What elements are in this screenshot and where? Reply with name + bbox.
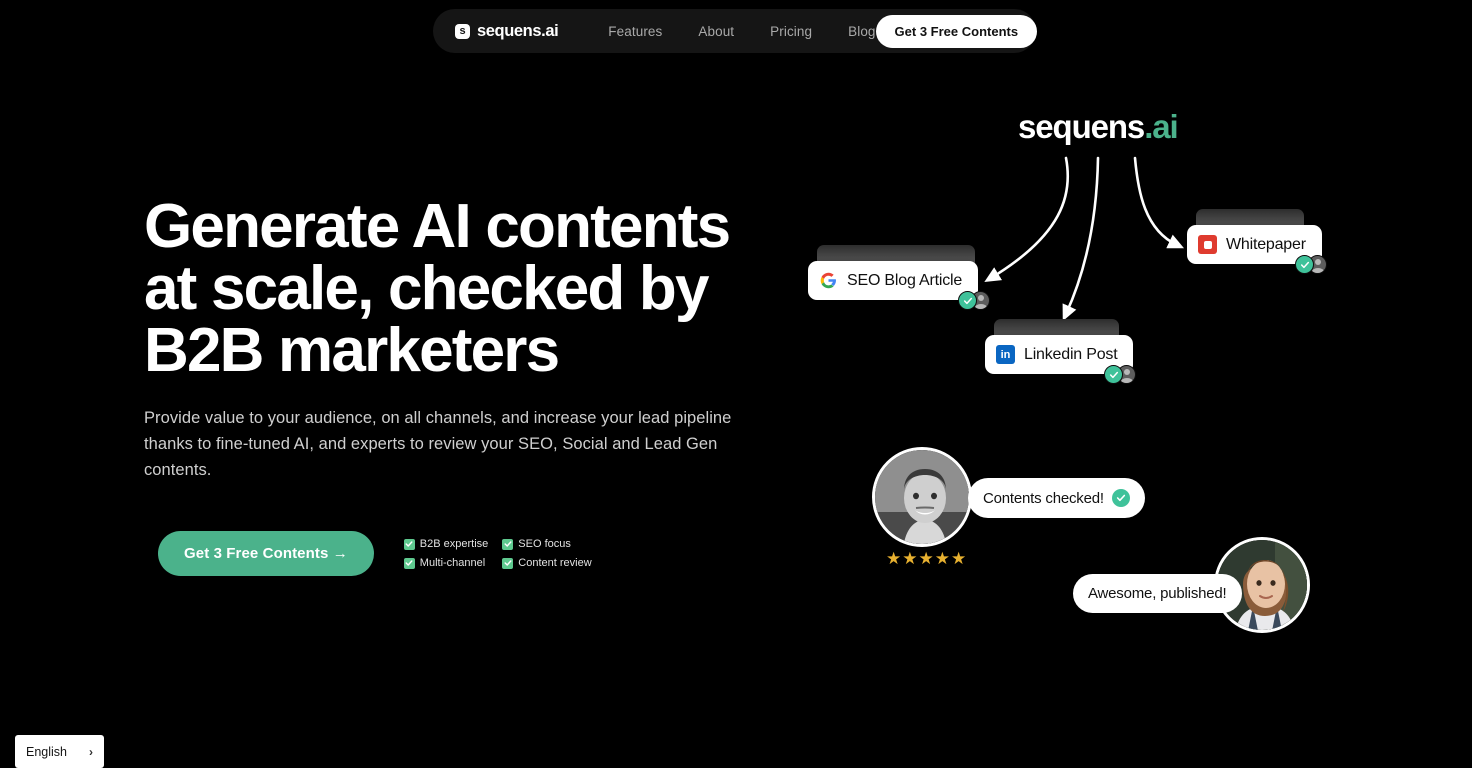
- testimonial-text: Contents checked!: [983, 490, 1104, 507]
- verified-check-icon: [1112, 489, 1130, 507]
- wordmark-suffix: .ai: [1144, 108, 1177, 145]
- page-title: Generate AI contents at scale, checked b…: [144, 196, 794, 382]
- nav-link-features[interactable]: Features: [608, 24, 662, 39]
- verified-check-icon: [958, 291, 977, 310]
- rating-stars: ★★★★★: [886, 550, 967, 567]
- hero-get-free-contents-button[interactable]: Get 3 Free Contents →: [158, 531, 374, 576]
- nav-link-pricing[interactable]: Pricing: [770, 24, 812, 39]
- feature-label: Multi-channel: [420, 557, 485, 569]
- pdf-icon: [1198, 235, 1217, 254]
- hero-cta-row: Get 3 Free Contents → B2B expertise SEO …: [158, 531, 592, 576]
- sequens-logo-icon: s: [455, 24, 470, 39]
- card-label: Linkedin Post: [1024, 346, 1117, 364]
- brand-name: sequens.ai: [477, 22, 558, 41]
- card-badges: [1104, 365, 1136, 384]
- linkedin-icon: in: [996, 345, 1015, 364]
- avatar-male-reviewer: [872, 447, 972, 547]
- card-label: Whitepaper: [1226, 236, 1306, 254]
- google-icon: [819, 271, 838, 290]
- verified-check-icon: [1104, 365, 1123, 384]
- nav-link-blog[interactable]: Blog: [848, 24, 875, 39]
- feature-item-multi-channel: Multi-channel: [404, 557, 488, 569]
- check-icon: [404, 558, 415, 569]
- card-pill[interactable]: SEO Blog Article: [808, 261, 978, 300]
- hero-subheading: Provide value to your audience, on all c…: [144, 406, 774, 484]
- feature-item-b2b-expertise: B2B expertise: [404, 538, 488, 550]
- brand-logo[interactable]: s sequens.ai: [455, 22, 558, 41]
- feature-label: Content review: [518, 557, 591, 569]
- testimonial-bubble-awesome-published: Awesome, published!: [1073, 574, 1242, 613]
- hero-content: Generate AI contents at scale, checked b…: [144, 196, 794, 484]
- navbar-get-free-contents-button[interactable]: Get 3 Free Contents: [876, 15, 1038, 48]
- main-navbar: s sequens.ai Features About Pricing Blog…: [433, 9, 1036, 53]
- language-selector-value: English: [26, 745, 67, 759]
- nav-link-about[interactable]: About: [698, 24, 734, 39]
- feature-label: SEO focus: [518, 538, 571, 550]
- illustration-wordmark: sequens.ai: [1018, 108, 1178, 146]
- card-badges: [958, 291, 990, 310]
- verified-check-icon: [1295, 255, 1314, 274]
- language-selector[interactable]: English ›: [15, 735, 104, 768]
- feature-checklist: B2B expertise SEO focus Multi-channel: [404, 538, 592, 569]
- landing-page: s sequens.ai Features About Pricing Blog…: [0, 0, 1472, 768]
- check-icon: [502, 558, 513, 569]
- feature-label: B2B expertise: [420, 538, 488, 550]
- feature-item-seo-focus: SEO focus: [502, 538, 591, 550]
- card-badges: [1295, 255, 1327, 274]
- feature-item-content-review: Content review: [502, 557, 591, 569]
- testimonial-text: Awesome, published!: [1088, 585, 1227, 602]
- chevron-right-icon: ›: [89, 745, 93, 759]
- card-label: SEO Blog Article: [847, 272, 962, 290]
- testimonial-bubble-contents-checked: Contents checked!: [968, 478, 1145, 518]
- nav-links: Features About Pricing Blog: [608, 24, 875, 39]
- wordmark-main: sequens: [1018, 108, 1144, 145]
- check-icon: [502, 539, 513, 550]
- check-icon: [404, 539, 415, 550]
- hero-illustration: sequens.ai: [790, 80, 1390, 680]
